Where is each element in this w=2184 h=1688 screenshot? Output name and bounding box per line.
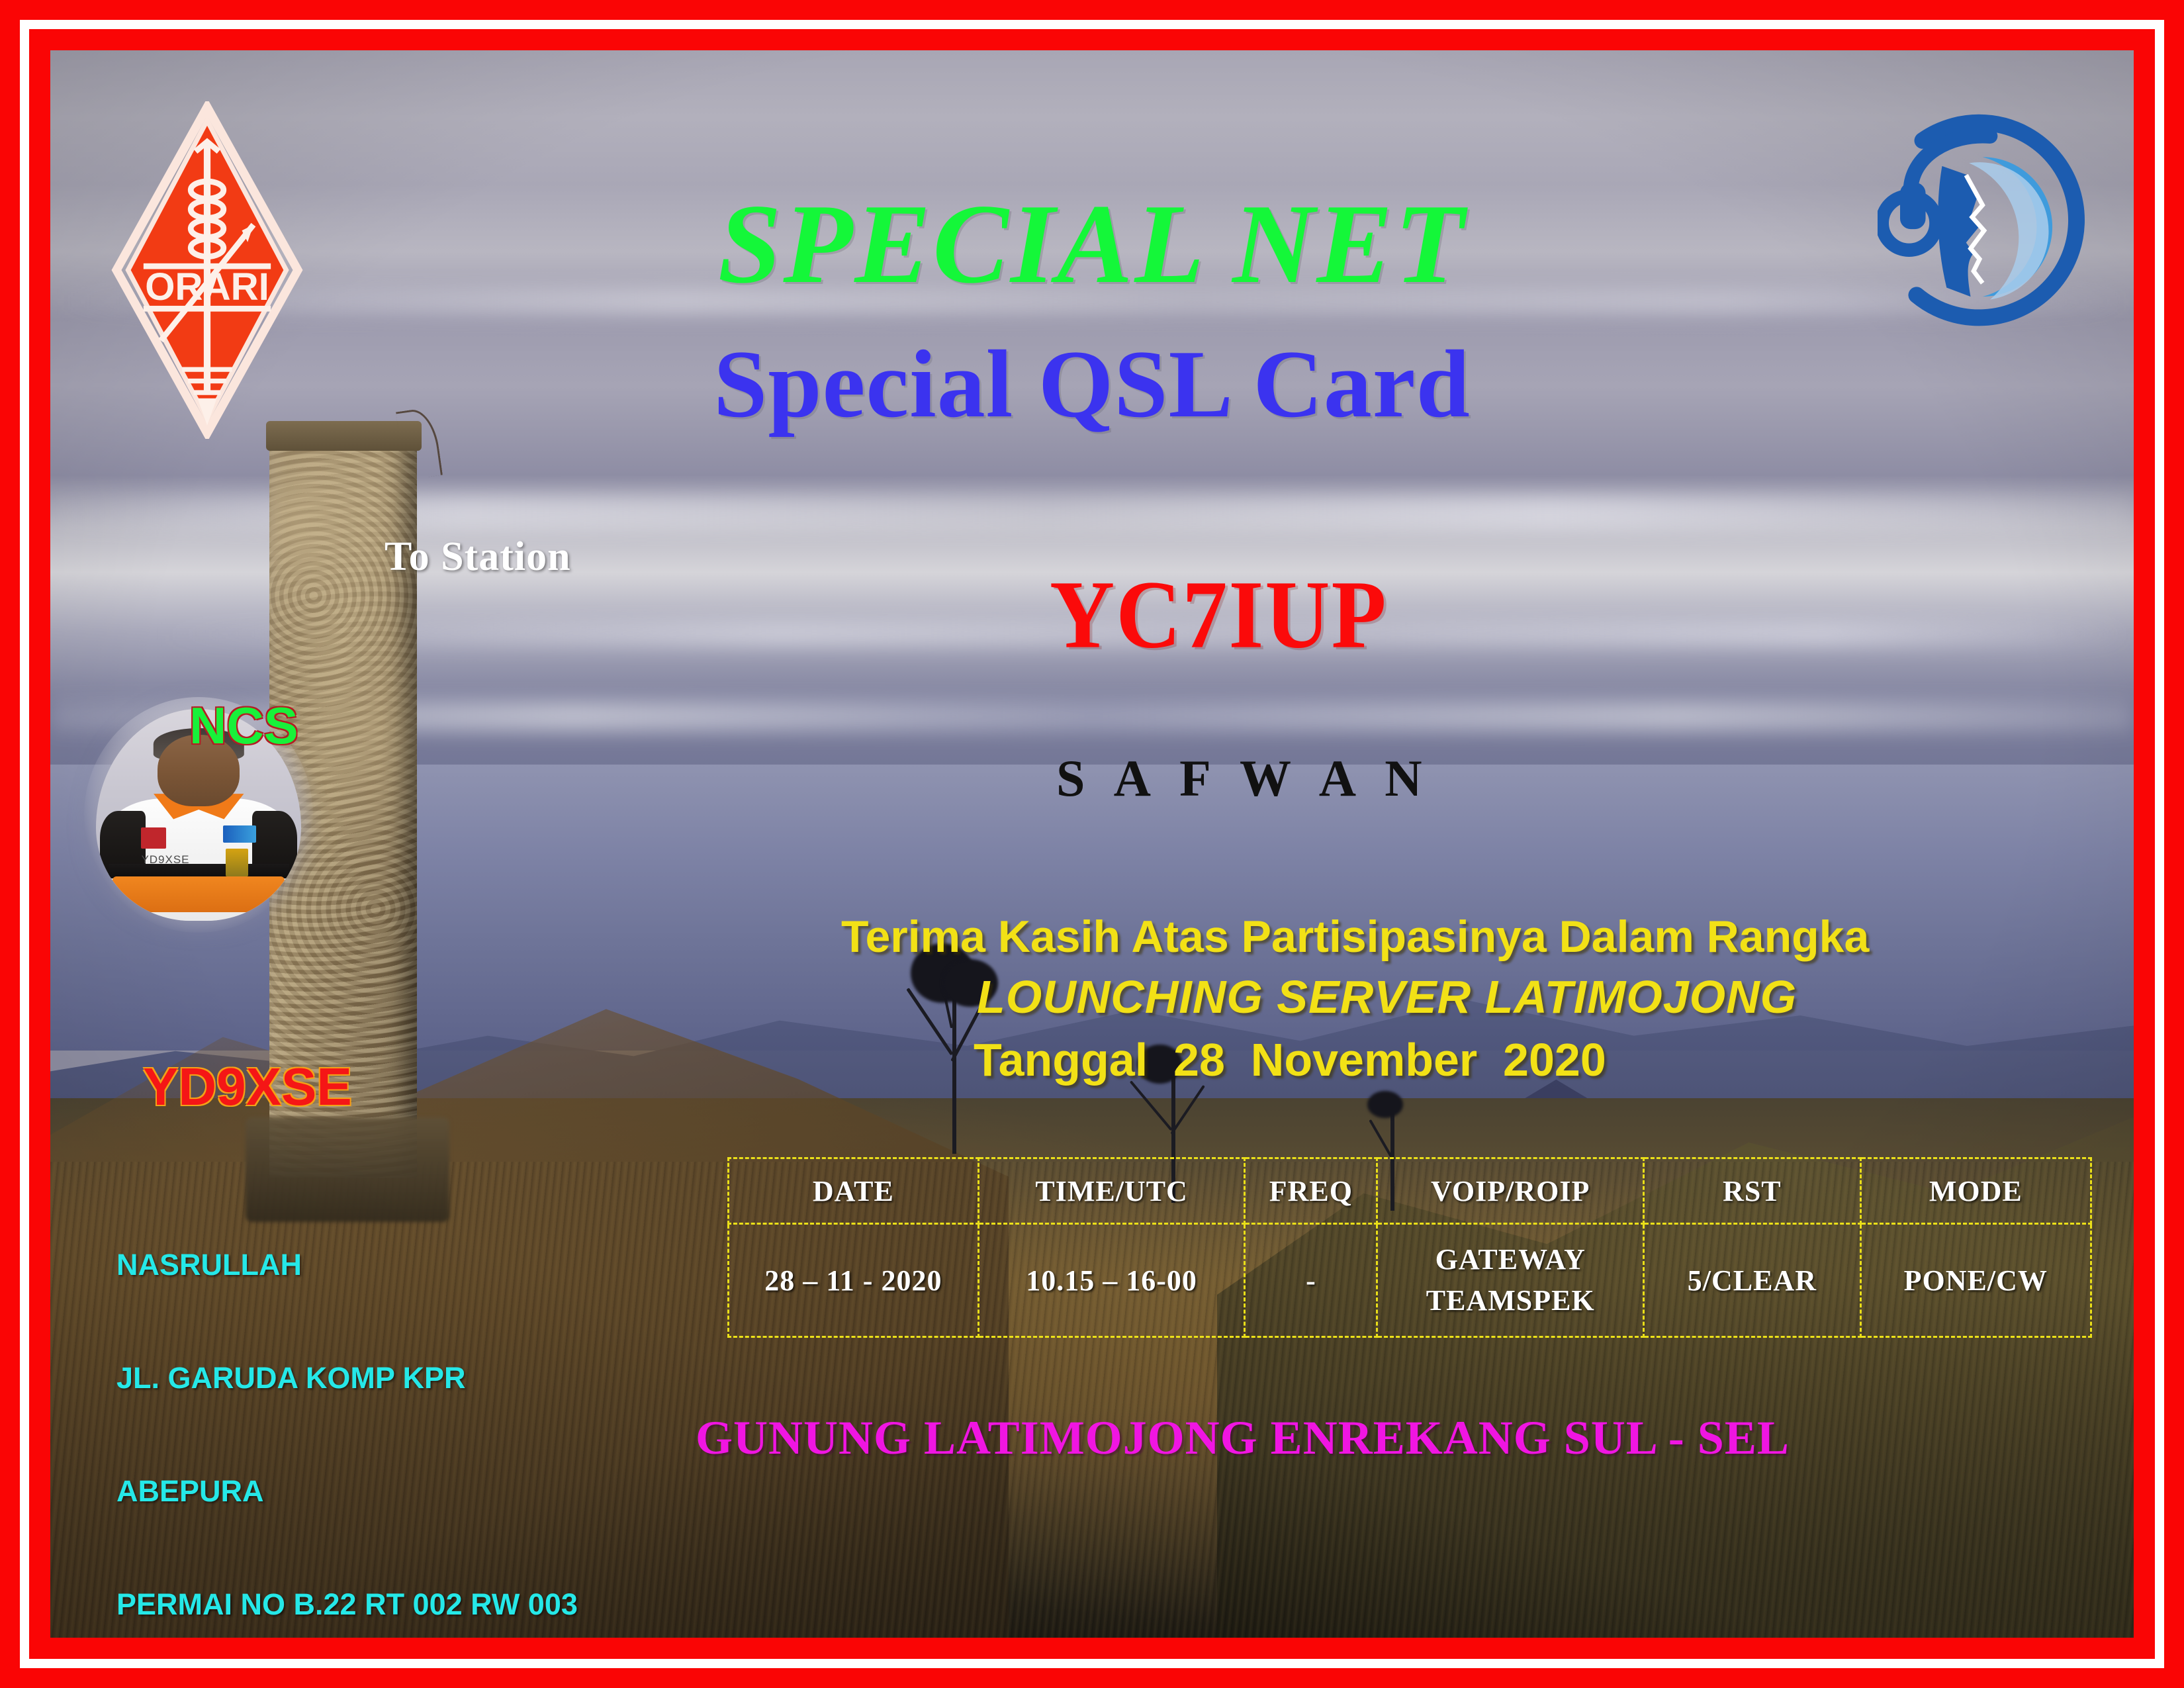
operator-name: S A F W A N [1056, 749, 1432, 808]
table-header-row: DATE TIME/UTC FREQ VOIP/ROIP RST MODE [729, 1158, 2091, 1224]
cell-freq: - [1245, 1224, 1377, 1337]
ncs-address-block: NASRULLAH JL. GARUDA KOMP KPR ABEPURA PE… [116, 1170, 578, 1638]
column-header-freq: FREQ [1245, 1158, 1377, 1224]
column-header-time: TIME/UTC [978, 1158, 1245, 1224]
address-line: PERMAI NO B.22 RT 002 RW 003 [116, 1585, 578, 1623]
location-caption: GUNUNG LATIMOJONG ENREKANG SUL - SEL [696, 1411, 1790, 1466]
footer-web-address: Address : amatir.latimojong.com [1331, 1634, 2028, 1638]
cell-voip: GATEWAY TEAMSPEK [1377, 1224, 1644, 1337]
uniform-badge-left [141, 827, 165, 849]
card-photo-background: ORARI [50, 50, 2134, 1638]
column-header-voip: VOIP/ROIP [1377, 1158, 1644, 1224]
subtitle-special-qsl-card: Special QSL Card [50, 328, 2134, 440]
cell-mode: PONE/CW [1860, 1224, 2091, 1337]
address-line: ABEPURA [116, 1472, 578, 1510]
card-inner-red-border: ORARI [29, 29, 2155, 1659]
cell-rst: 5/CLEAR [1644, 1224, 1860, 1337]
qsl-card: ORARI [0, 0, 2184, 1688]
uniform-callsign-text: YD9XSE [141, 853, 189, 867]
qso-details-table: DATE TIME/UTC FREQ VOIP/ROIP RST MODE 28… [727, 1157, 2092, 1338]
uniform-id-card [226, 849, 248, 876]
column-header-date: DATE [729, 1158, 979, 1224]
footer-slogan: "AMATIR RADIO ADALAH PROGRESIVE" [128, 1636, 1102, 1638]
address-line: NASRULLAH [116, 1246, 578, 1284]
cell-time: 10.15 – 16-00 [978, 1224, 1245, 1337]
to-station-label: To Station [385, 534, 571, 581]
uniform-badge-right [223, 825, 256, 843]
column-header-mode: MODE [1860, 1158, 2091, 1224]
station-callsign: YC7IUP [1050, 559, 1388, 671]
thanks-line-3: Tanggal 28 November 2020 [974, 1033, 1606, 1086]
ncs-label: NCS [189, 696, 298, 756]
uniform-sash [113, 876, 285, 912]
thanks-line-1: Terima Kasih Atas Partisipasinya Dalam R… [841, 911, 1869, 962]
column-header-rst: RST [1644, 1158, 1860, 1224]
cell-voip-line-2: TEAMSPEK [1378, 1280, 1643, 1321]
card-white-gap: ORARI [20, 20, 2164, 1668]
address-line: JL. GARUDA KOMP KPR [116, 1359, 578, 1397]
cell-voip-line-1: GATEWAY [1378, 1239, 1643, 1280]
thanks-line-2: LOUNCHING SERVER LATIMOJONG [977, 970, 1797, 1023]
cell-date: 28 – 11 - 2020 [729, 1224, 979, 1337]
table-row: 28 – 11 - 2020 10.15 – 16-00 - GATEWAY T… [729, 1224, 2091, 1337]
ncs-callsign: YD9XSE [143, 1056, 352, 1117]
title-special-net: SPECIAL NET [50, 179, 2134, 310]
